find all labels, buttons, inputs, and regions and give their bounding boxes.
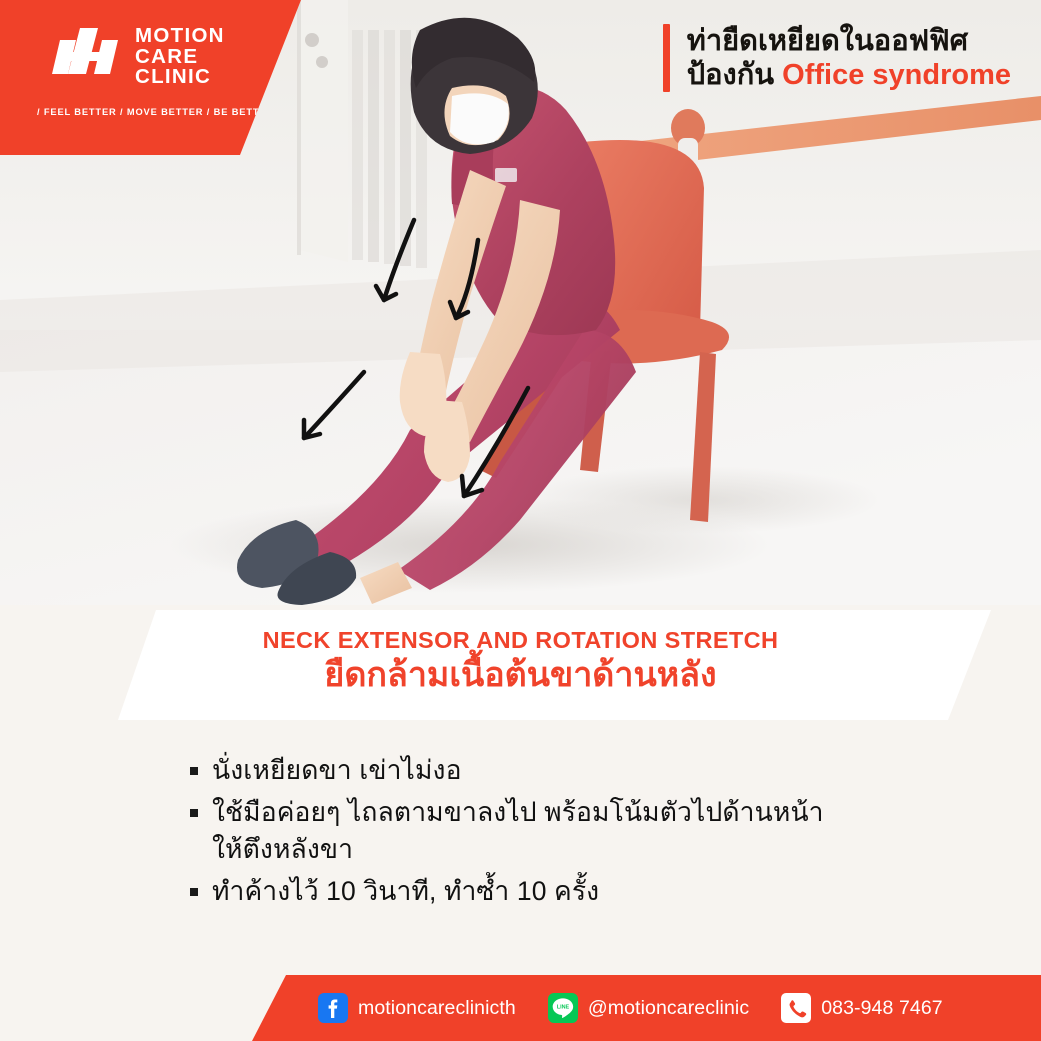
motion-care-clinic-m-mark <box>46 28 122 86</box>
brand-tagline: / FEEL BETTER / MOVE BETTER / BE BETTER … <box>37 107 281 117</box>
brand-wordmark: MOTION CARE CLINIC <box>135 26 225 88</box>
square-bullet-icon <box>190 767 198 775</box>
title-thai: ยืดกล้ามเนื้อต้นขาด้านหลัง <box>324 656 716 695</box>
list-item: ใช้มือค่อยๆ ไถลตามขาลงไป พร้อมโน้มตัวไปด… <box>190 794 890 869</box>
contact-facebook[interactable]: motioncareclinicth <box>318 993 516 1023</box>
facebook-icon[interactable] <box>318 993 348 1023</box>
facebook-handle[interactable]: motioncareclinicth <box>358 997 516 1020</box>
list-item: ทำค้างไว้ 10 วินาที, ทำซ้ำ 10 ครั้ง <box>190 873 890 911</box>
header-title-group: ท่ายืดเหยียดในออฟฟิศ ป้องกัน Office synd… <box>663 24 1011 92</box>
contact-line[interactable]: LINE @motioncareclinic <box>548 993 749 1023</box>
phone-number[interactable]: 083-948 7467 <box>821 997 943 1020</box>
header-line-1: ท่ายืดเหยียดในออฟฟิศ <box>687 24 1011 58</box>
brand-word-1: MOTION <box>135 26 225 47</box>
instruction-text-1: นั่งเหยียดขา เข่าไม่งอ <box>212 752 462 790</box>
brand-word-2: CARE <box>135 47 225 68</box>
square-bullet-icon <box>190 888 198 896</box>
square-bullet-icon <box>190 809 198 817</box>
contact-phone[interactable]: 083-948 7467 <box>781 993 943 1023</box>
header-line-2: ป้องกัน Office syndrome <box>687 58 1011 92</box>
phone-icon[interactable] <box>781 993 811 1023</box>
header-accent-bar <box>663 24 670 92</box>
instruction-list: นั่งเหยียดขา เข่าไม่งอ ใช้มือค่อยๆ ไถลตา… <box>190 752 890 915</box>
svg-text:LINE: LINE <box>557 1005 570 1011</box>
instruction-text-3: ทำค้างไว้ 10 วินาที, ทำซ้ำ 10 ครั้ง <box>212 873 599 911</box>
line-handle[interactable]: @motioncareclinic <box>588 997 749 1020</box>
header-line-2-accent: Office syndrome <box>782 59 1011 91</box>
title-english: NECK EXTENSOR AND ROTATION STRETCH <box>263 627 779 654</box>
brand-logo: MOTION CARE CLINIC <box>46 26 225 88</box>
header-line-2-prefix: ป้องกัน <box>687 59 782 91</box>
brand-word-3: CLINIC <box>135 67 225 88</box>
poster-canvas: MOTION CARE CLINIC / FEEL BETTER / MOVE … <box>0 0 1041 1041</box>
list-item: นั่งเหยียดขา เข่าไม่งอ <box>190 752 890 790</box>
instruction-text-2: ใช้มือค่อยๆ ไถลตามขาลงไป พร้อมโน้มตัวไปด… <box>212 794 824 869</box>
footer-contacts: motioncareclinicth LINE @motioncareclini… <box>0 975 1041 1041</box>
line-icon[interactable]: LINE <box>548 993 578 1023</box>
title-block: NECK EXTENSOR AND ROTATION STRETCH ยืดกล… <box>0 600 1041 722</box>
